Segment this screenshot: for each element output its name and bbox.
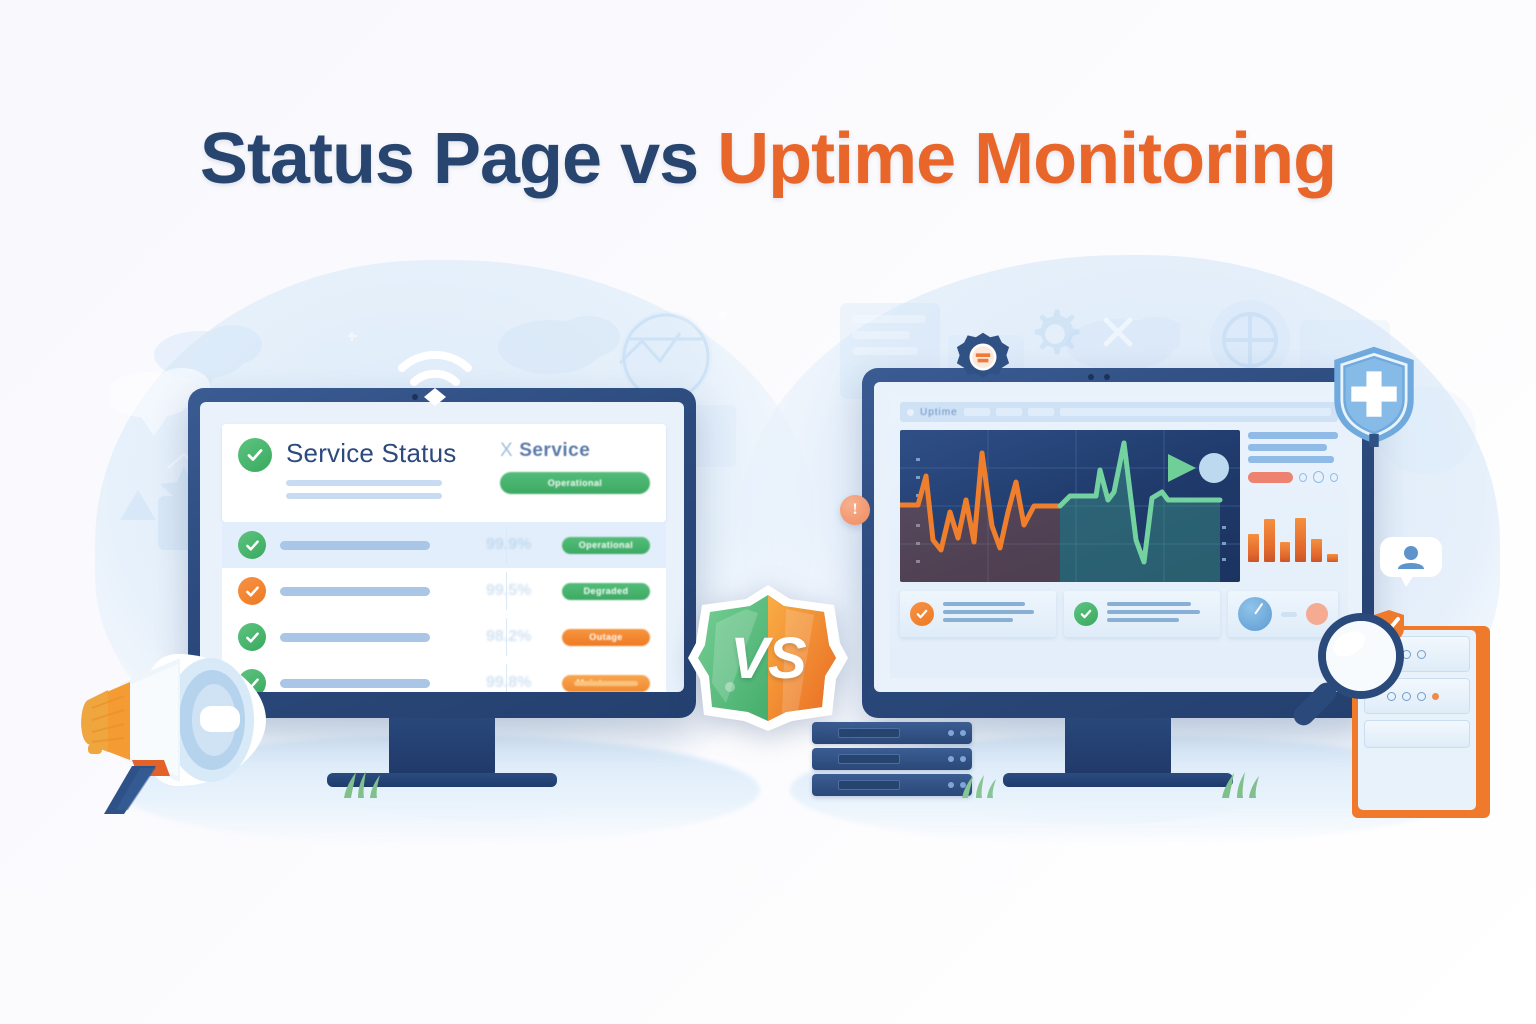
status-row-badge[interactable]: Maintenance xyxy=(562,675,650,692)
server-unit xyxy=(812,748,972,770)
alert-pill[interactable] xyxy=(1248,472,1293,483)
ring-icon xyxy=(1313,471,1324,483)
topbar-segment xyxy=(996,408,1022,416)
side-pill-row xyxy=(1248,471,1338,483)
status-page-header: Service Status XService Operational xyxy=(222,424,666,522)
alert-badge-label: ! xyxy=(852,501,857,519)
incident-bar-chart xyxy=(1248,502,1338,562)
gear-icon xyxy=(956,330,1010,384)
alert-badge-icon[interactable]: ! xyxy=(840,495,870,525)
dashboard-topbar-label: Uptime xyxy=(920,407,958,418)
side-line xyxy=(1248,456,1334,463)
check-circle-icon xyxy=(238,438,272,472)
status-row-value: 98.2% xyxy=(486,628,530,646)
ring-icon xyxy=(1330,473,1338,482)
status-row-badge[interactable]: Degraded xyxy=(562,583,650,600)
bar xyxy=(1264,519,1275,562)
title-part-uptime-monitoring: Uptime Monitoring xyxy=(717,119,1336,199)
monitor-neck xyxy=(1065,718,1171,776)
status-row-badge[interactable]: Outage xyxy=(562,629,650,646)
side-line xyxy=(1248,444,1327,451)
dashboard-body xyxy=(900,430,1338,582)
vs-badge: VS xyxy=(686,583,850,733)
grass-decor-center xyxy=(958,772,998,798)
check-circle-icon xyxy=(238,531,266,559)
status-row-value: 99.9% xyxy=(486,536,530,554)
side-line xyxy=(1248,432,1338,439)
uptime-chart-svg xyxy=(900,430,1240,582)
gear-icon-decorative xyxy=(1026,305,1084,363)
gauge-icon xyxy=(1238,597,1272,631)
server-unit xyxy=(812,774,972,796)
status-card[interactable] xyxy=(900,591,1056,637)
page-title: Status Page vs Uptime Monitoring xyxy=(0,118,1536,200)
illustration-canvas: Status Page vs Uptime Monitoring xyxy=(0,0,1536,1024)
magnifier-icon xyxy=(1283,608,1413,743)
status-row-value: 99.8% xyxy=(486,674,530,692)
topbar-segment xyxy=(1060,408,1331,416)
topbar-segment xyxy=(964,408,990,416)
play-triangle-icon xyxy=(1168,454,1196,482)
status-page-title: Service Status xyxy=(286,440,486,466)
user-bubble-icon xyxy=(1378,535,1444,587)
status-page-brand: XService xyxy=(500,440,650,462)
dashboard-side-panel xyxy=(1248,430,1338,582)
header-status-badge[interactable]: Operational xyxy=(500,472,650,494)
card-text-lines xyxy=(1107,602,1210,626)
camera-dot-icon xyxy=(1088,374,1094,380)
brand-prefix: X xyxy=(500,440,513,461)
status-card[interactable] xyxy=(1064,591,1220,637)
bar xyxy=(1311,539,1322,562)
dashboard-cards xyxy=(900,591,1338,637)
uptime-chart xyxy=(900,430,1240,582)
brand-name: Service xyxy=(519,440,590,461)
status-row-badge[interactable]: Operational xyxy=(562,537,650,554)
vs-badge-label: VS xyxy=(686,583,850,733)
server-stack-icon xyxy=(812,722,972,808)
ring-icon xyxy=(1299,473,1307,482)
bar xyxy=(1295,518,1306,562)
check-circle-icon xyxy=(238,577,266,605)
bar xyxy=(1327,554,1338,562)
wifi-icon xyxy=(392,338,478,408)
bar xyxy=(1248,534,1259,562)
status-page-subtitle-lines xyxy=(286,480,486,499)
check-circle-icon xyxy=(910,602,934,626)
bar xyxy=(1280,542,1291,562)
decor-sparkle-icon xyxy=(1098,312,1138,352)
topbar-dot-icon xyxy=(907,409,914,416)
status-row[interactable]: 99.5% Degraded xyxy=(222,568,666,614)
dashboard-topbar: Uptime xyxy=(900,402,1338,422)
shield-plus-icon xyxy=(1326,343,1422,447)
grass-decor-left xyxy=(338,768,384,798)
check-circle-icon xyxy=(1074,602,1098,626)
megaphone-icon xyxy=(60,618,330,823)
title-part-status-page: Status Page vs xyxy=(200,119,717,199)
topbar-segment xyxy=(1028,408,1054,416)
camera-dot-icon-2 xyxy=(1104,374,1110,380)
grass-decor-right xyxy=(1218,770,1262,798)
monitor-neck xyxy=(389,718,495,776)
status-row-value: 99.5% xyxy=(486,582,530,600)
status-row[interactable]: 99.9% Operational xyxy=(222,522,666,568)
monitor-base xyxy=(1003,773,1233,787)
status-dot-icon xyxy=(1199,453,1229,483)
uptime-dashboard-app: Uptime xyxy=(890,394,1348,678)
card-text-lines xyxy=(943,602,1046,626)
